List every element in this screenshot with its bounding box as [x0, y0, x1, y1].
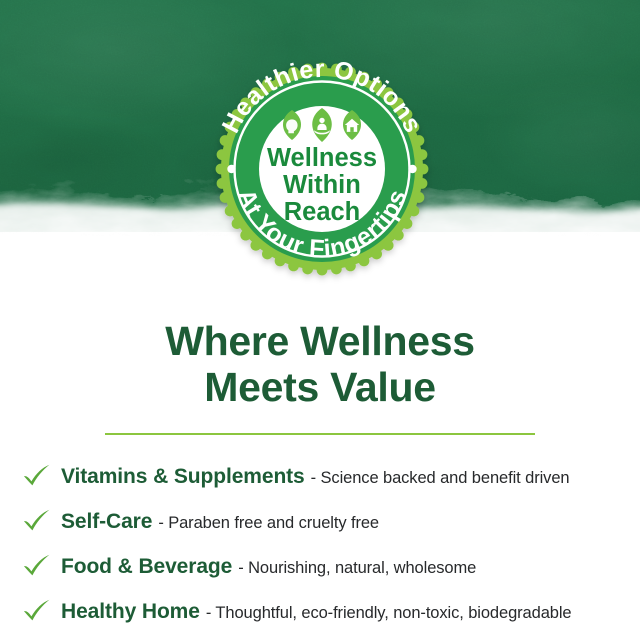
wellness-seal-badge: Healthier Options At Your Fingertips: [205, 60, 439, 278]
page-title-line-1: Where Wellness: [34, 318, 606, 364]
check-icon: [22, 599, 52, 621]
benefit-description: - Nourishing, natural, wholesome: [238, 559, 476, 578]
badge-separator-dot-right: [408, 165, 416, 173]
benefit-description: - Thoughtful, eco-friendly, non-toxic, b…: [206, 604, 572, 623]
benefits-list: Vitamins & Supplements - Science backed …: [0, 461, 640, 624]
svg-text:Reach: Reach: [284, 198, 361, 226]
svg-text:Wellness: Wellness: [267, 144, 377, 172]
list-item: Vitamins & Supplements - Science backed …: [0, 461, 640, 489]
list-item: Self-Care - Paraben free and cruelty fre…: [0, 506, 640, 534]
benefit-title: Vitamins & Supplements: [61, 465, 305, 489]
page-title-line-2: Meets Value: [34, 364, 606, 410]
benefit-description: - Paraben free and cruelty free: [158, 514, 379, 533]
svg-text:Within: Within: [283, 171, 361, 199]
benefit-description: - Science backed and benefit driven: [311, 469, 570, 488]
benefit-title: Healthy Home: [61, 600, 200, 624]
list-item: Food & Beverage - Nourishing, natural, w…: [0, 551, 640, 579]
benefit-title: Food & Beverage: [61, 555, 232, 579]
check-icon: [22, 554, 52, 576]
content-section: Where Wellness Meets Value Vitamins & Su…: [0, 318, 640, 624]
title-divider: [105, 433, 535, 435]
check-icon: [22, 509, 52, 531]
benefit-title: Self-Care: [61, 510, 152, 534]
check-icon: [22, 464, 52, 486]
badge-separator-dot-left: [227, 165, 235, 173]
badge-icon-row: [283, 108, 361, 142]
list-item: Healthy Home - Thoughtful, eco-friendly,…: [0, 596, 640, 624]
wellness-promo-banner: Healthier Options At Your Fingertips: [0, 0, 640, 640]
page-title: Where Wellness Meets Value: [0, 318, 640, 411]
